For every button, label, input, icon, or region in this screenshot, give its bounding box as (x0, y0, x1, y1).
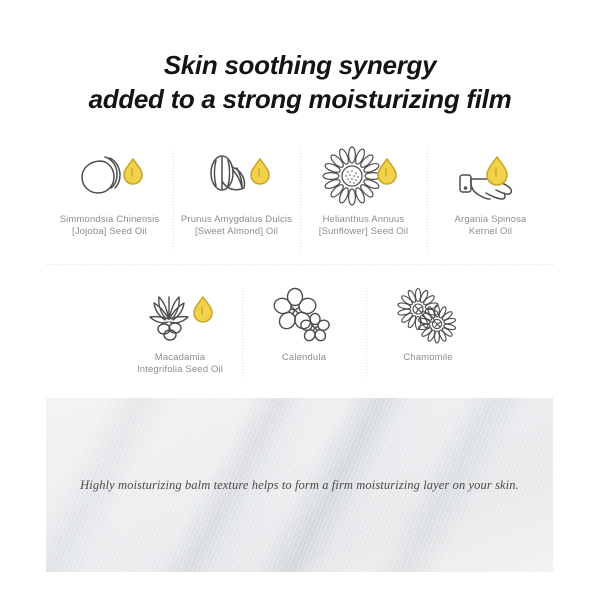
chamomile-icon (393, 286, 463, 348)
ingredient-label: Macadamia Integrifolia Seed Oil (137, 352, 223, 376)
oil-droplet-icon (378, 159, 396, 184)
ingredient-row-2: Macadamia Integrifolia Seed Oil (118, 286, 490, 382)
ingredient-item-chamomile: Chamomile (366, 286, 490, 382)
ingredient-item-sunflower: Helianthus Annuus [Sunflower] Seed Oil (300, 148, 427, 252)
sunflower-icon (325, 148, 403, 210)
ingredient-item-macadamia: Macadamia Integrifolia Seed Oil (118, 286, 242, 382)
ingredient-item-calendula: Calendula (242, 286, 366, 382)
calendula-icon (269, 286, 339, 348)
ingredient-item-sweet-almond: Prunus Amygdalus Dulcis [Sweet Almond] O… (173, 148, 300, 252)
ingredient-label: Calendula (282, 352, 326, 364)
hand-droplet-icon (452, 148, 530, 210)
almond-icon (198, 148, 276, 210)
ingredient-label: Simmondsia Chinensis [Jojoba] Seed Oil (60, 214, 160, 238)
photo-caption: Highly moisturizing balm texture helps t… (46, 478, 553, 493)
oil-droplet-icon (251, 159, 269, 184)
ingredient-item-argan: Argania Spinosa Kernel Oil (427, 148, 554, 252)
infographic-page: Skin soothing synergy added to a strong … (0, 0, 600, 600)
oil-droplet-icon (194, 297, 212, 322)
macadamia-icon (141, 286, 219, 348)
ingredient-item-jojoba: Simmondsia Chinensis [Jojoba] Seed Oil (46, 148, 173, 252)
ingredient-label: Chamomile (403, 352, 452, 364)
oil-droplet-icon (124, 159, 142, 184)
page-title: Skin soothing synergy added to a strong … (0, 48, 600, 116)
ingredient-label: Argania Spinosa Kernel Oil (455, 214, 527, 238)
oil-droplet-icon (487, 157, 507, 185)
ingredient-label: Helianthus Annuus [Sunflower] Seed Oil (319, 214, 409, 238)
jojoba-seed-icon (71, 148, 149, 210)
balm-texture-photo: Highly moisturizing balm texture helps t… (46, 398, 553, 572)
ingredient-row-1: Simmondsia Chinensis [Jojoba] Seed Oil (46, 148, 554, 252)
ingredient-label: Prunus Amygdalus Dulcis [Sweet Almond] O… (181, 214, 292, 238)
section-divider (46, 264, 554, 265)
headline-line-2: added to a strong moisturizing film (0, 82, 600, 116)
headline-line-1: Skin soothing synergy (164, 50, 437, 80)
